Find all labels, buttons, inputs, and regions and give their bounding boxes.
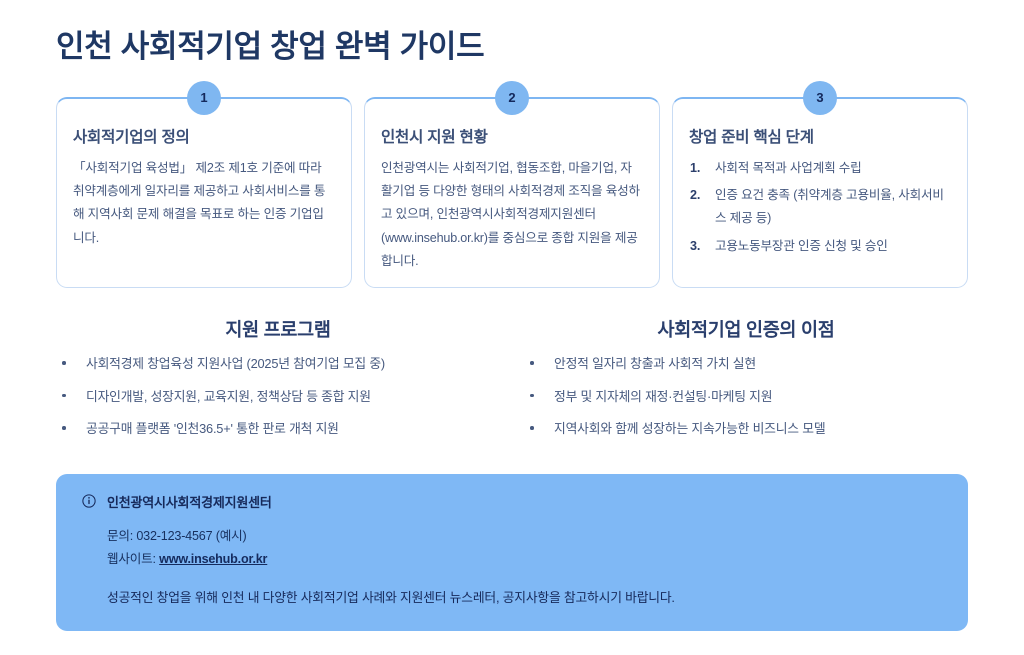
list-item: 안정적 일자리 창출과 사회적 가치 실현	[524, 354, 968, 374]
contact-info-header: 인천광역시사회적경제지원센터	[82, 492, 942, 511]
step-card-2: 2 인천시 지원 현황 인천광역시는 사회적기업, 협동조합, 마을기업, 자활…	[364, 97, 660, 288]
step-card-3: 3 창업 준비 핵심 단계 사회적 목적과 사업계획 수립 인증 요건 충족 (…	[672, 97, 968, 288]
step-card-steps-3: 사회적 목적과 사업계획 수립 인증 요건 충족 (취약계층 고용비율, 사회서…	[689, 157, 951, 258]
contact-info-title: 인천광역시사회적경제지원센터	[107, 492, 272, 511]
list-item: 인증 요건 충족 (취약계층 고용비율, 사회서비스 제공 등)	[689, 184, 951, 229]
list-item: 고용노동부장관 인증 신청 및 승인	[689, 235, 951, 258]
list-item: 사회적경제 창업육성 지원사업 (2025년 참여기업 모집 중)	[56, 354, 500, 374]
list-item: 공공구매 플랫폼 '인천36.5+' 통한 판로 개척 지원	[56, 419, 500, 439]
support-programs-list: 사회적경제 창업육성 지원사업 (2025년 참여기업 모집 중) 디자인개발,…	[56, 354, 500, 439]
step-badge-2: 2	[495, 81, 529, 115]
step-card-title-1: 사회적기업의 정의	[73, 125, 335, 147]
step-card-body-1: 「사회적기업 육성법」 제2조 제1호 기준에 따라 취약계층에게 일자리를 제…	[73, 157, 335, 250]
list-item: 정부 및 지자체의 재정·컨설팅·마케팅 지원	[524, 387, 968, 407]
contact-website-label: 웹사이트:	[107, 552, 159, 566]
step-card-title-2: 인천시 지원 현황	[381, 125, 643, 147]
contact-website-line: 웹사이트: www.insehub.or.kr	[107, 548, 942, 571]
list-item: 디자인개발, 성장지원, 교육지원, 정책상담 등 종합 지원	[56, 387, 500, 407]
section-title-support-programs: 지원 프로그램	[56, 316, 500, 342]
step-badge-3: 3	[803, 81, 837, 115]
step-badge-1: 1	[187, 81, 221, 115]
list-item: 지역사회와 함께 성장하는 지속가능한 비즈니스 모델	[524, 419, 968, 439]
certification-benefits-list: 안정적 일자리 창출과 사회적 가치 실현 정부 및 지자체의 재정·컨설팅·마…	[524, 354, 968, 439]
section-certification-benefits: 사회적기업 인증의 이점 안정적 일자리 창출과 사회적 가치 실현 정부 및 …	[524, 316, 968, 451]
contact-info-panel: 인천광역시사회적경제지원센터 문의: 032-123-4567 (예시) 웹사이…	[56, 474, 968, 631]
section-support-programs: 지원 프로그램 사회적경제 창업육성 지원사업 (2025년 참여기업 모집 중…	[56, 316, 500, 451]
contact-info-footnote: 성공적인 창업을 위해 인천 내 다양한 사회적기업 사례와 지원센터 뉴스레터…	[107, 587, 942, 609]
contact-info-details: 문의: 032-123-4567 (예시) 웹사이트: www.insehub.…	[107, 525, 942, 572]
page-title: 인천 사회적기업 창업 완벽 가이드	[56, 0, 968, 67]
guide-page: 인천 사회적기업 창업 완벽 가이드 1 사회적기업의 정의 「사회적기업 육성…	[0, 0, 1024, 655]
list-item: 사회적 목적과 사업계획 수립	[689, 157, 951, 180]
info-circle-icon	[82, 494, 96, 508]
contact-phone-line: 문의: 032-123-4567 (예시)	[107, 525, 942, 548]
two-column-sections: 지원 프로그램 사회적경제 창업육성 지원사업 (2025년 참여기업 모집 중…	[56, 316, 968, 451]
step-card-title-3: 창업 준비 핵심 단계	[689, 125, 951, 147]
website-link[interactable]: www.insehub.or.kr	[159, 552, 267, 566]
step-card-1: 1 사회적기업의 정의 「사회적기업 육성법」 제2조 제1호 기준에 따라 취…	[56, 97, 352, 288]
step-cards-row: 1 사회적기업의 정의 「사회적기업 육성법」 제2조 제1호 기준에 따라 취…	[56, 97, 968, 288]
section-title-certification-benefits: 사회적기업 인증의 이점	[524, 316, 968, 342]
step-card-body-2: 인천광역시는 사회적기업, 협동조합, 마을기업, 자활기업 등 다양한 형태의…	[381, 157, 643, 273]
